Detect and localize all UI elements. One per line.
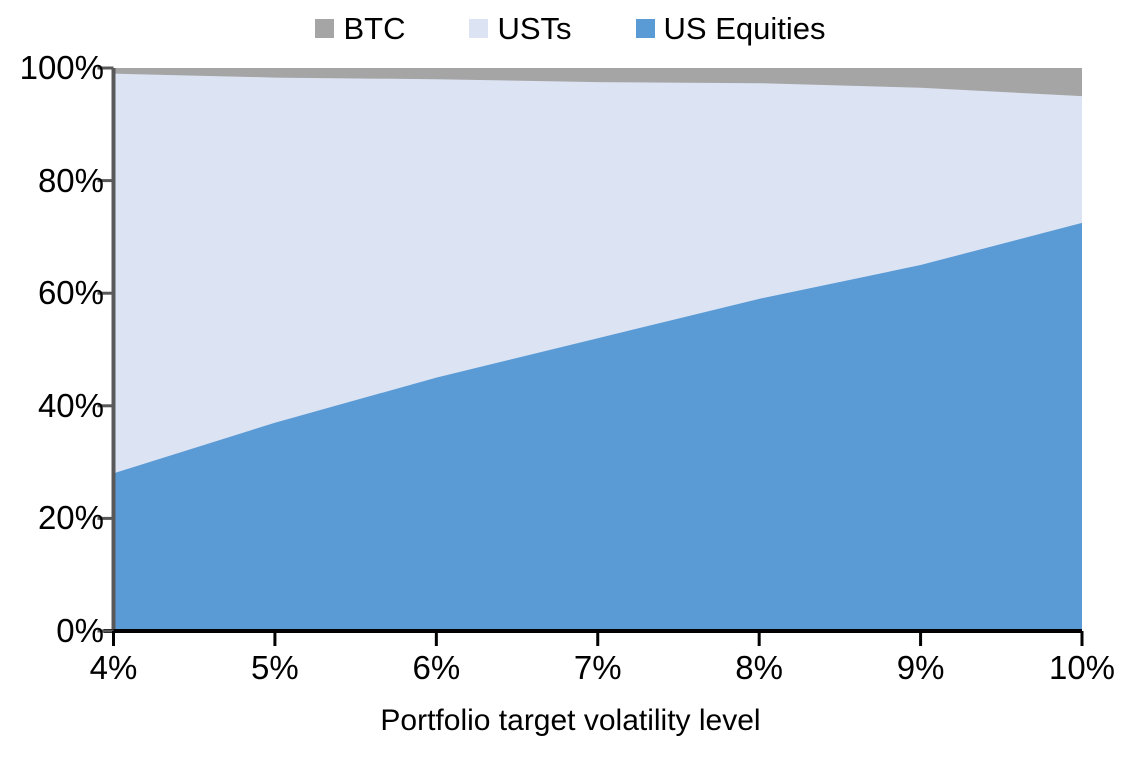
- x-axis-tick-labels: 4%5%6%7%8%9%10%: [0, 0, 1141, 763]
- x-tick-label: 9%: [897, 651, 945, 684]
- stacked-area-chart: BTC USTs US Equities 0%20%40%60%80%100% …: [0, 0, 1141, 763]
- x-tick-label: 5%: [251, 651, 299, 684]
- x-tick-label: 4%: [90, 651, 138, 684]
- x-tick-label: 10%: [1049, 651, 1115, 684]
- x-tick-label: 8%: [735, 651, 783, 684]
- x-tick-label: 7%: [574, 651, 622, 684]
- x-tick-label: 6%: [412, 651, 460, 684]
- x-axis-title: Portfolio target volatility level: [0, 706, 1141, 736]
